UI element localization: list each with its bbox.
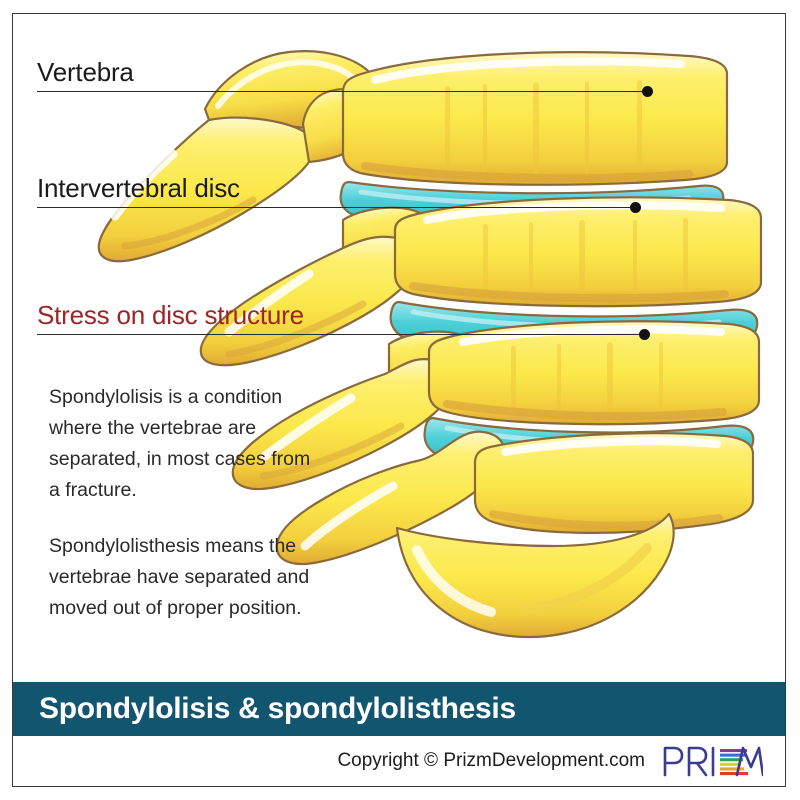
copyright-text: Copyright © PrizmDevelopment.com — [337, 750, 645, 772]
callout-intervertebral-disc-label: Intervertebral disc — [37, 173, 240, 204]
description-paragraph-2: Spondylolisthesis means the vertebrae ha… — [49, 531, 317, 624]
callout-stress-on-disc-structure-leader-line — [37, 334, 644, 335]
title-banner: Spondylolisis & spondylolisthesis — [13, 682, 786, 736]
footer: Copyright © PrizmDevelopment.com — [13, 736, 786, 786]
callout-intervertebral-disc-leader-line — [37, 207, 635, 208]
prizm-logo — [659, 742, 763, 780]
callout-intervertebral-disc: Intervertebral disc — [37, 170, 677, 208]
callout-vertebra-leader-line — [37, 91, 647, 92]
callout-vertebra-endpoint-dot — [642, 86, 653, 97]
callout-stress-on-disc-structure: Stress on disc structure — [37, 297, 677, 335]
banner-title-text: Spondylolisis & spondylolisthesis — [39, 692, 516, 726]
callout-vertebra-label: Vertebra — [37, 57, 134, 88]
description-paragraph-1: Spondylolisis is a condition where the v… — [49, 382, 317, 506]
callout-stress-on-disc-structure-label: Stress on disc structure — [37, 300, 304, 331]
callout-vertebra: Vertebra — [37, 54, 677, 92]
callout-stress-on-disc-structure-endpoint-dot — [639, 329, 650, 340]
poster-card: Vertebra Intervertebral disc Stress on d… — [12, 13, 786, 787]
callout-intervertebral-disc-endpoint-dot — [630, 202, 641, 213]
